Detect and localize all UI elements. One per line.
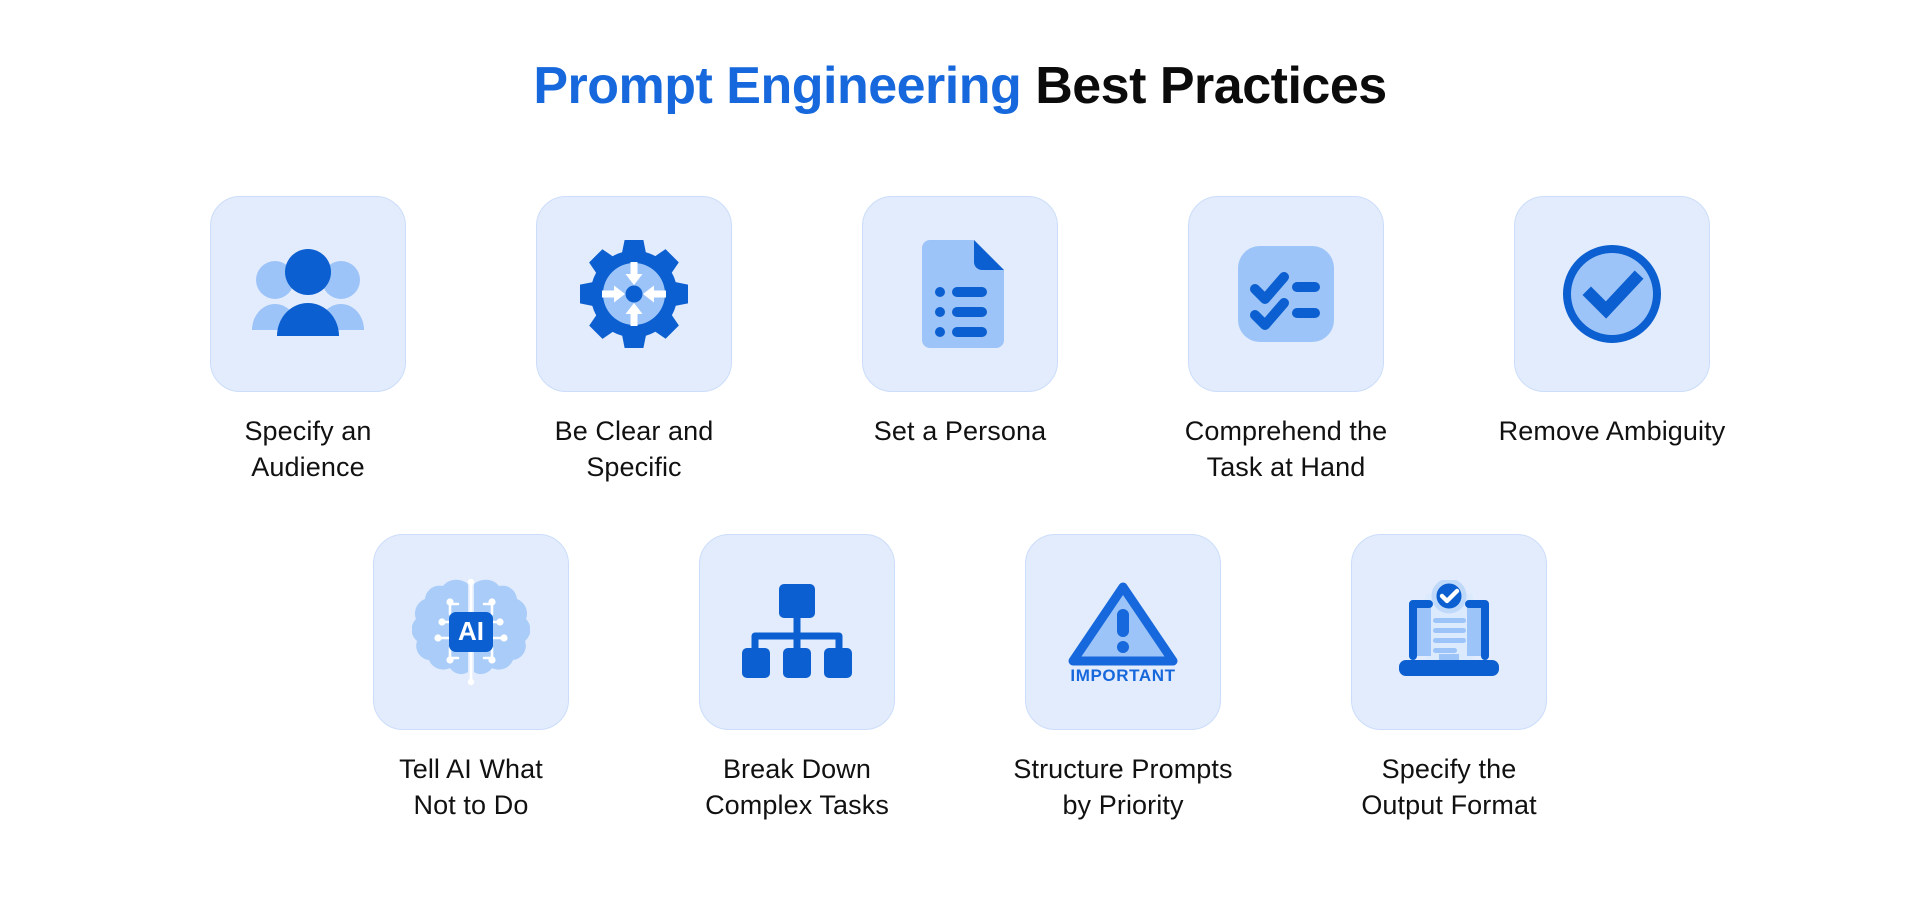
practices-row-1: Specify an Audience Be Clear and [0, 196, 1920, 486]
practice-item-remove-ambiguity[interactable]: Remove Ambiguity [1449, 196, 1775, 450]
practice-item-break-down-complex-tasks[interactable]: Break Down Complex Tasks [634, 534, 960, 824]
practice-card-specify-output-format[interactable] [1351, 534, 1547, 730]
people-group-icon [250, 244, 366, 344]
page-title-accent: Prompt Engineering [533, 57, 1021, 115]
practice-label: Break Down Complex Tasks [705, 752, 889, 824]
practice-card-comprehend-task[interactable] [1188, 196, 1384, 392]
practice-item-comprehend-task[interactable]: Comprehend the Task at Hand [1123, 196, 1449, 486]
practice-label: Comprehend the Task at Hand [1185, 414, 1388, 486]
hierarchy-tree-icon [741, 582, 853, 682]
document-list-icon [912, 238, 1008, 350]
practice-label: Be Clear and Specific [555, 414, 714, 486]
checklist-icon [1236, 244, 1336, 344]
practice-card-tell-ai-what-not-to-do[interactable]: AI [373, 534, 569, 730]
important-label-text: IMPORTANT [1070, 666, 1175, 685]
practice-card-remove-ambiguity[interactable] [1514, 196, 1710, 392]
ai-badge-text: AI [458, 616, 484, 646]
laptop-document-check-icon [1391, 580, 1507, 684]
practice-card-structure-prompts-by-priority[interactable]: IMPORTANT [1025, 534, 1221, 730]
practice-label: Set a Persona [874, 414, 1046, 450]
warning-triangle-icon: IMPORTANT [1067, 579, 1179, 685]
practice-label: Specify an Audience [244, 414, 371, 486]
gear-converge-arrows-icon [578, 238, 690, 350]
practice-item-structure-prompts-by-priority[interactable]: IMPORTANT Structure Prompts by Priority [960, 534, 1286, 824]
page-title: Prompt Engineering Best Practices [0, 58, 1920, 115]
practice-item-set-persona[interactable]: Set a Persona [797, 196, 1123, 450]
practice-card-set-persona[interactable] [862, 196, 1058, 392]
practice-label: Structure Prompts by Priority [1013, 752, 1232, 824]
ai-brain-circuit-icon: AI [412, 576, 530, 688]
infographic-page: Prompt Engineering Best Practices Specif… [0, 0, 1920, 904]
practice-label: Remove Ambiguity [1499, 414, 1726, 450]
practice-item-specify-output-format[interactable]: Specify the Output Format [1286, 534, 1612, 824]
practice-label: Specify the Output Format [1361, 752, 1536, 824]
check-circle-icon [1560, 242, 1664, 346]
practice-item-specify-audience[interactable]: Specify an Audience [145, 196, 471, 486]
practices-row-2: AI Tell AI What Not to Do [0, 534, 1920, 824]
page-title-plain: Best Practices [1021, 57, 1386, 115]
practice-card-break-down-complex-tasks[interactable] [699, 534, 895, 730]
practice-item-be-clear-specific[interactable]: Be Clear and Specific [471, 196, 797, 486]
practice-label: Tell AI What Not to Do [399, 752, 543, 824]
practice-card-be-clear-specific[interactable] [536, 196, 732, 392]
practice-item-tell-ai-what-not-to-do[interactable]: AI Tell AI What Not to Do [308, 534, 634, 824]
practice-card-specify-audience[interactable] [210, 196, 406, 392]
